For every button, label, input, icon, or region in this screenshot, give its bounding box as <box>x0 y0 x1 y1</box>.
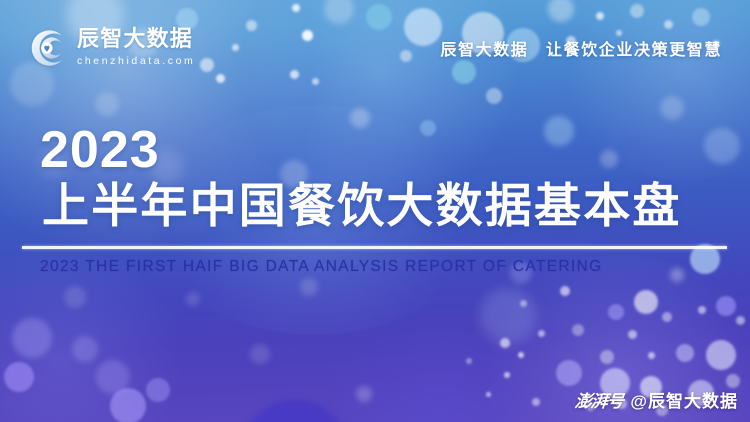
bokeh-circle <box>466 358 472 364</box>
bokeh-circle <box>12 318 52 358</box>
page-title: 上半年中国餐饮大数据基本盘 <box>42 180 682 233</box>
bokeh-circle <box>518 352 524 358</box>
bokeh-circle <box>662 312 672 322</box>
bokeh-circle <box>240 400 350 422</box>
header-tagline: 辰智大数据 让餐饮企业决策更智慧 <box>440 36 722 60</box>
bokeh-circle <box>200 58 214 72</box>
bokeh-circle <box>216 74 225 83</box>
bokeh-circle <box>290 70 299 79</box>
bokeh-circle <box>186 292 200 306</box>
bokeh-circle <box>628 330 637 339</box>
bokeh-circle <box>548 0 574 22</box>
bokeh-circle <box>544 116 574 146</box>
bokeh-circle <box>572 324 584 336</box>
bokeh-circle <box>64 286 86 308</box>
bokeh-circle <box>648 352 655 359</box>
bokeh-circle <box>232 44 239 51</box>
bokeh-circle <box>538 330 545 337</box>
glow-wash-top-center <box>230 0 530 200</box>
bokeh-circle <box>520 300 527 307</box>
bokeh-circle <box>404 8 442 46</box>
bokeh-circle <box>670 268 684 282</box>
bokeh-circle <box>630 4 644 18</box>
bokeh-circle <box>324 0 354 24</box>
title-divider <box>22 246 727 249</box>
bokeh-circle <box>596 12 604 20</box>
bokeh-circle <box>246 20 257 31</box>
brand-logo[interactable]: 辰智大数据 chenzhidata.com <box>24 26 195 70</box>
brand-name-cn: 辰智大数据 <box>77 27 195 52</box>
bokeh-circle <box>95 92 119 116</box>
bokeh-circle <box>532 398 540 406</box>
bokeh-circle <box>676 344 694 362</box>
bokeh-circle <box>302 30 313 41</box>
bokeh-circle <box>704 128 740 164</box>
bokeh-circle <box>736 316 745 325</box>
bokeh-circle <box>452 60 476 84</box>
bokeh-circle <box>486 392 491 397</box>
watermark-platform-logo: 澎湃号 <box>574 387 625 412</box>
watermark: 澎湃号 @辰智大数据 <box>575 387 738 412</box>
glow-wash-bottom-center <box>300 330 580 422</box>
title-year: 2023 <box>40 124 160 176</box>
bokeh-circle <box>4 362 34 392</box>
bokeh-circle <box>110 388 146 422</box>
bokeh-circle <box>480 288 536 344</box>
bokeh-circle <box>726 374 740 388</box>
bokeh-circle <box>608 304 624 320</box>
brand-domain: chenzhidata.com <box>77 54 195 69</box>
bokeh-circle <box>350 108 370 128</box>
bokeh-circle <box>400 50 412 62</box>
bokeh-circle <box>634 290 658 314</box>
bokeh-circle <box>96 360 130 394</box>
bokeh-circle <box>366 4 392 30</box>
bokeh-circle <box>716 296 736 316</box>
bokeh-circle <box>504 372 510 378</box>
poster-slide: 辰智大数据 chenzhidata.com 辰智大数据 让餐饮企业决策更智慧 2… <box>0 0 750 422</box>
bokeh-circle <box>560 286 570 296</box>
bokeh-circle <box>556 360 582 386</box>
bokeh-circle <box>300 278 318 296</box>
bokeh-circle <box>692 8 710 26</box>
bokeh-circle <box>420 120 436 136</box>
bokeh-circle <box>600 150 618 168</box>
bokeh-circle <box>250 344 270 364</box>
glow-wash-top-right <box>560 0 750 180</box>
bokeh-circle <box>664 20 673 29</box>
title-subtitle-en: 2023 THE FIRST HAIF BIG DATA ANALYSIS RE… <box>40 258 603 276</box>
bokeh-circle <box>312 78 319 85</box>
watermark-account: @辰智大数据 <box>630 387 738 412</box>
bokeh-circle <box>706 340 736 370</box>
bokeh-circle <box>698 306 706 314</box>
bokeh-circle <box>292 4 300 12</box>
bokeh-circle <box>660 96 684 120</box>
bokeh-circle <box>72 336 98 362</box>
chenzhi-c-heart-logo-icon <box>24 26 68 70</box>
bokeh-circle <box>500 338 510 348</box>
bokeh-circle <box>146 378 170 402</box>
bokeh-circle <box>356 386 372 402</box>
bokeh-circle <box>486 88 502 104</box>
bokeh-circle <box>600 350 614 364</box>
brand-logo-text: 辰智大数据 chenzhidata.com <box>77 27 195 68</box>
